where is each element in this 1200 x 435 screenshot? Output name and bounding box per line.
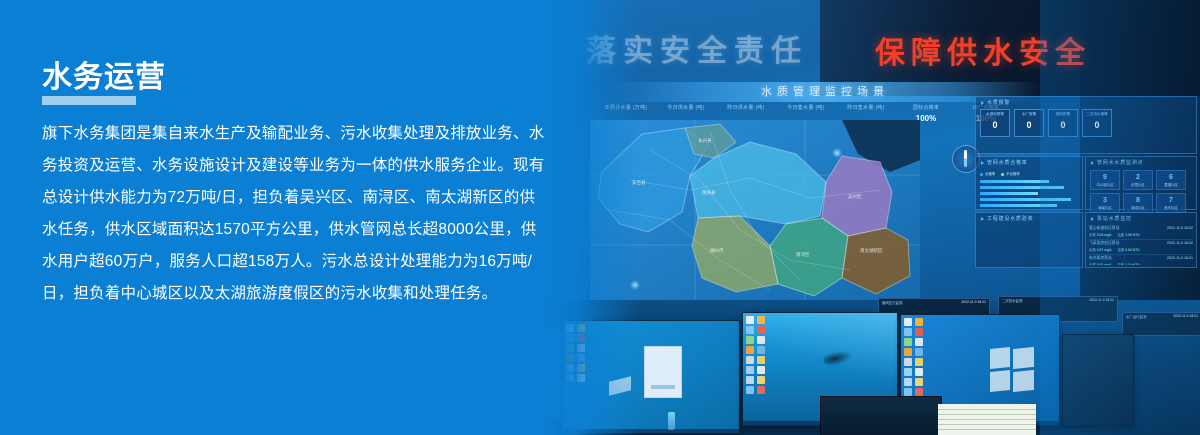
kpi-label: 国标合格率: [896, 104, 956, 111]
desktop-icon[interactable]: [915, 358, 923, 366]
panel-title: 管网水水质监测点: [1091, 159, 1143, 166]
panel-title: 管网水质合格率: [981, 159, 1028, 166]
strip-date: 2022-11-9 18:22: [1089, 298, 1114, 302]
panel-title: 水质报警: [981, 99, 1010, 106]
monitor-point-cell: 7 练市片区: [1156, 193, 1186, 213]
pump-station-feed: 爱山街道加压泵站 2022-11-9 18:22 余氯 0.54 mg/L 浊度…: [1089, 225, 1193, 265]
map-glow-dot: [832, 148, 842, 158]
alarm-card-value: 0: [1060, 120, 1065, 130]
desktop-icon[interactable]: [904, 388, 912, 396]
desktop-icon[interactable]: [915, 318, 923, 326]
alarm-card-label: 水源地报警: [986, 112, 1004, 117]
slogan-water-supply-safety: 保障供水安全: [875, 28, 1091, 72]
monitor-point-label: 练市片区: [1164, 205, 1178, 210]
feed-name: 朱办泵房泵站: [1089, 256, 1112, 261]
feed-name: 飞英泵房加压泵站: [1089, 241, 1119, 246]
monitor-laptop-spreadsheet: [820, 396, 942, 435]
panel-title: 泵站水质监控: [1091, 215, 1132, 222]
desktop-icon[interactable]: [904, 358, 912, 366]
kpi-label: 今日售水量 (吨): [776, 104, 836, 111]
rate-bar: [980, 186, 1064, 189]
strip-date: 2022-11-9 18:22: [961, 300, 986, 304]
rate-bar: [980, 180, 1049, 183]
feed-metric-chlorine: 余氯 0.51 mg/L: [1089, 262, 1112, 265]
alarm-card-label: 二次供水报警: [1086, 112, 1108, 117]
kpi-item: 昨日供水量 (吨): [716, 104, 776, 114]
monitor-dark-right: [1062, 334, 1134, 426]
feed-row: 飞英泵房加压泵站 2022-11-9 18:22 余氯 0.57 mg/L 浊度…: [1089, 240, 1193, 255]
feed-row: 朱办泵房泵站 2022-11-9 18:21 余氯 0.51 mg/L 浊度 1…: [1089, 255, 1193, 265]
kpi-label: 昨日售水量 (吨): [836, 104, 896, 111]
panel-pump-station-quality: 泵站水质监控 爱山街道加压泵站 2022-11-9 18:22 余氯 0.54 …: [1085, 212, 1197, 268]
feed-row: 爱山街道加压泵站 2022-11-9 18:22 余氯 0.54 mg/L 浊度…: [1089, 225, 1193, 240]
kpi-label: 昨日供水量 (吨): [716, 104, 776, 111]
monitor-point-value: 6: [1169, 174, 1173, 181]
map-label-district: 吴兴区: [848, 194, 862, 200]
monitor-point-cell: 6 菱湖片区: [1156, 170, 1186, 190]
strip-title: 二次供水监测: [1002, 298, 1022, 303]
map-label-district: 南太湖新区: [860, 248, 883, 254]
rate-bar: [980, 204, 1057, 207]
strip-title: 水厂运行监测: [1126, 314, 1146, 319]
kpi-item: 昨日售水量 (吨): [836, 104, 896, 114]
alarm-card-label: 管网报警: [1056, 112, 1070, 117]
windows-logo-icon: [990, 348, 1034, 392]
desktop-icon[interactable]: [915, 328, 923, 336]
desktop-icon[interactable]: [904, 318, 912, 326]
title-underline-bar: [42, 96, 136, 105]
alarm-card-list: 水源地报警 0 水厂报警 0 管网报警 0 二次供水报警 0: [980, 109, 1112, 137]
alarm-card: 二次供水报警 0: [1082, 109, 1112, 137]
desktop-icon[interactable]: [915, 378, 923, 386]
rate-chart: 合格率 不合格率: [980, 171, 1076, 210]
alarm-card-value: 0: [992, 120, 997, 130]
rate-bars: [980, 180, 1076, 207]
rate-legend-item: 不合格率: [1001, 171, 1020, 176]
monitor-point-grid: 9 中心城片区 2 织里片区 6 菱湖片区 3 埭溪片区: [1090, 170, 1186, 213]
alarm-card-label: 水厂报警: [1022, 112, 1036, 117]
desktop-icon[interactable]: [915, 338, 923, 346]
kpi-item: 今日售水量 (吨): [776, 104, 836, 114]
monitor-point-value: 8: [1136, 197, 1140, 204]
feed-metric-chlorine: 余氯 0.54 mg/L: [1089, 232, 1112, 237]
alarm-card: 水源地报警 0: [980, 109, 1010, 137]
monitor-point-label: 南浔片区: [1131, 205, 1145, 210]
alarm-card: 水厂报警 0: [1014, 109, 1044, 137]
desktop-icon[interactable]: [915, 348, 923, 356]
panel-project-quality-acceptance: 工程建设水质验收: [975, 212, 1083, 268]
strip-title: 管网压力监测: [882, 300, 902, 305]
monitor-point-value: 7: [1169, 197, 1173, 204]
strip-display: 水厂运行监测 2022-11-9 18:21: [1122, 312, 1200, 336]
rate-bar: [980, 192, 1038, 195]
desktop-dialog-window[interactable]: [644, 346, 682, 398]
monitor-point-label: 中心城片区: [1097, 182, 1114, 187]
kpi-label: 今日供水量 (吨): [656, 104, 716, 111]
feed-name: 爱山街道加压泵站: [1089, 226, 1119, 231]
panel-water-quality-alarm: 水质报警 水源地报警 0 水厂报警 0 管网报警 0 二次供: [975, 96, 1197, 154]
map-label-district: 德清县: [702, 190, 716, 196]
left-text-panel: 水务运营 旗下水务集团是集自来水生产及输配业务、污水收集处理及排放业务、水务投资…: [0, 0, 560, 435]
monitor-point-cell: 8 南浔片区: [1123, 193, 1153, 213]
description-paragraph: 旗下水务集团是集自来水生产及输配业务、污水收集处理及排放业务、水务投资及运营、水…: [42, 118, 550, 310]
desktop-icon[interactable]: [904, 348, 912, 356]
dashboard-panels: 水质报警 水源地报警 0 水厂报警 0 管网报警 0 二次供: [975, 96, 1200, 321]
water-operations-banner: 落实安全责任 保障供水安全 水质管理监控场景 年预计水量 (万吨) 今日供水量 …: [0, 0, 1200, 435]
feed-metric-turbidity: 浊度 0.92 NTU: [1117, 247, 1139, 252]
kpi-item: 今日供水量 (吨): [656, 104, 716, 114]
feed-time: 2022-11-9 18:22: [1167, 241, 1193, 246]
feed-metric-turbidity: 浊度 1.14 NTU: [1117, 262, 1139, 265]
monitor-point-cell: 3 埭溪片区: [1090, 193, 1120, 213]
map-label-district: 长兴县: [698, 138, 712, 144]
rate-legend: 合格率 不合格率: [980, 171, 1076, 176]
monitor-point-value: 2: [1136, 174, 1140, 181]
monitor-point-value: 3: [1103, 197, 1107, 204]
feed-metric-chlorine: 余氯 0.57 mg/L: [1089, 247, 1112, 252]
spreadsheet-screen: [938, 404, 1036, 435]
monitor-point-cell: 9 中心城片区: [1090, 170, 1120, 190]
desktop-icon[interactable]: [904, 328, 912, 336]
panel-pipe-quality-rate: 管网水质合格率 合格率 不合格率: [975, 156, 1083, 210]
map-label-district: 南浔区: [796, 252, 810, 258]
rate-bar: [980, 198, 1071, 201]
rate-legend-item: 合格率: [980, 171, 995, 176]
panel-title: 工程建设水质验收: [981, 215, 1033, 222]
feed-time: 2022-11-9 18:21: [1167, 256, 1193, 261]
alarm-card-value: 0: [1026, 120, 1031, 130]
feed-metric-turbidity: 浊度 1.06 NTU: [1117, 232, 1139, 237]
panel-pipe-quality-monitor-points: 管网水水质监测点 9 中心城片区 2 织里片区 6 菱湖片区: [1085, 156, 1197, 210]
desktop-icon[interactable]: [915, 388, 923, 396]
monitor-point-cell: 2 织里片区: [1123, 170, 1153, 190]
desktop-icon[interactable]: [904, 378, 912, 386]
monitor-point-label: 织里片区: [1131, 182, 1145, 187]
desktop-icon[interactable]: [915, 368, 923, 376]
page-title: 水务运营: [42, 52, 166, 96]
water-bottle: [668, 412, 675, 430]
monitor-point-label: 埭溪片区: [1098, 205, 1112, 210]
strip-date: 2022-11-9 18:21: [1173, 314, 1198, 318]
desktop-icon[interactable]: [904, 368, 912, 376]
alarm-card-value: 0: [1094, 120, 1099, 130]
alarm-card: 管网报警 0: [1048, 109, 1078, 137]
map-label-district: 湖州市: [710, 248, 724, 254]
monitor-point-label: 菱湖片区: [1164, 182, 1178, 187]
feed-time: 2022-11-9 18:22: [1167, 226, 1193, 231]
monitor-point-value: 9: [1103, 174, 1107, 181]
desktop-icon[interactable]: [904, 338, 912, 346]
